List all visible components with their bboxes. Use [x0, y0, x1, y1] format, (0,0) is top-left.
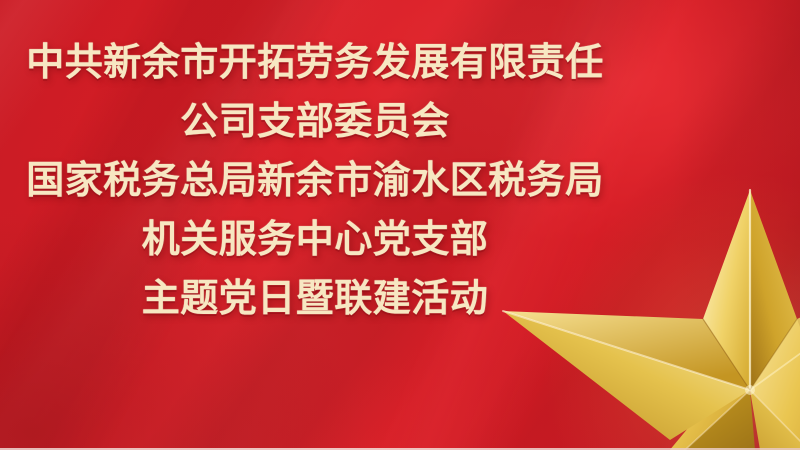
- title-line-5: 主题党日暨联建活动: [0, 280, 630, 318]
- title-line-1: 中共新余市开拓劳务发展有限责任: [0, 44, 630, 82]
- title-line-4: 机关服务中心党支部: [0, 221, 630, 259]
- poster-canvas: 中共新余市开拓劳务发展有限责任 公司支部委员会 国家税务总局新余市渝水区税务局 …: [0, 0, 800, 450]
- title-block: 中共新余市开拓劳务发展有限责任 公司支部委员会 国家税务总局新余市渝水区税务局 …: [0, 0, 630, 318]
- title-line-2: 公司支部委员会: [0, 103, 630, 141]
- title-line-3: 国家税务总局新余市渝水区税务局: [0, 162, 630, 200]
